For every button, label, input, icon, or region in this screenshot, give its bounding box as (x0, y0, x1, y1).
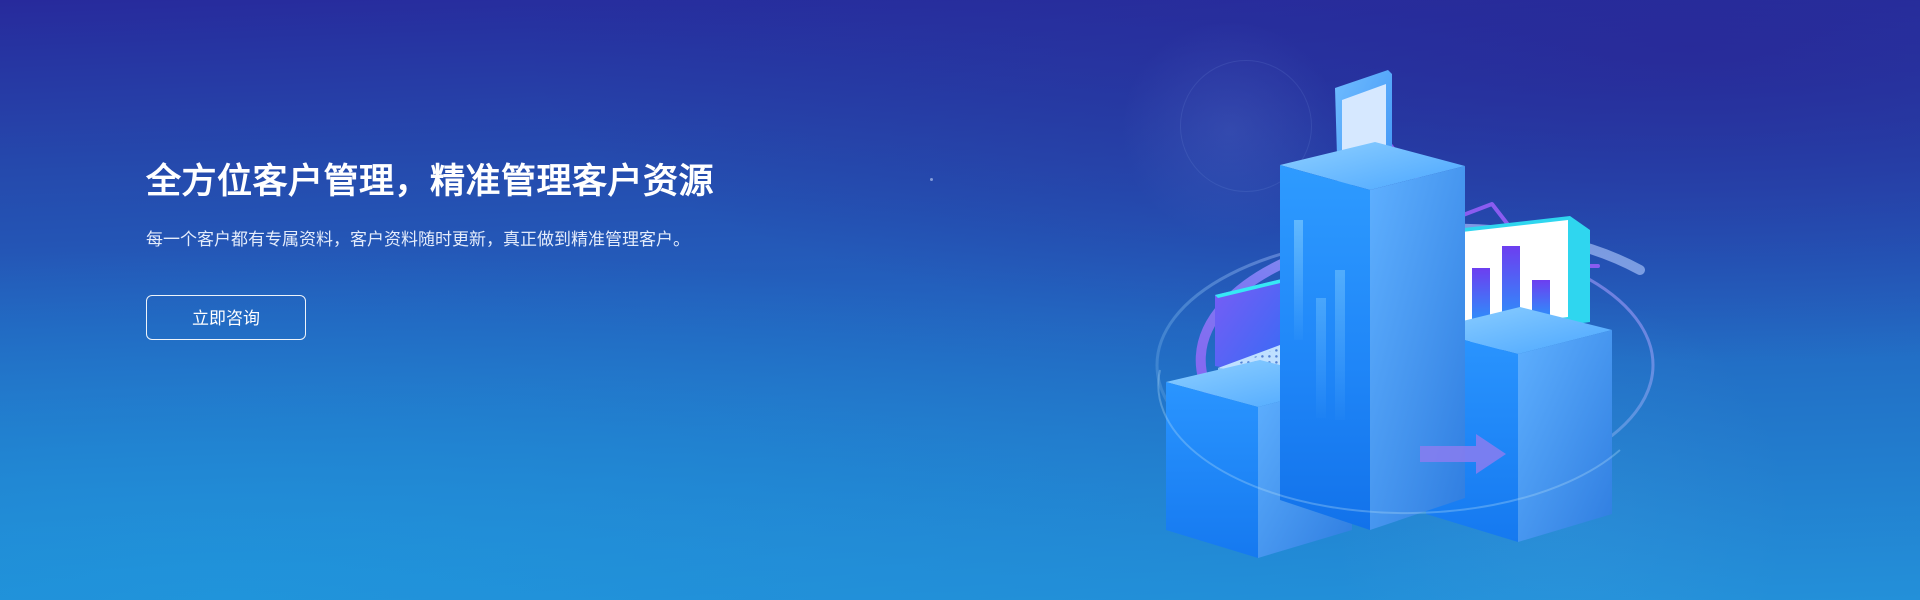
hero-banner: 全方位客户管理，精准管理客户资源 每一个客户都有专属资料，客户资料随时更新，真正… (0, 0, 1920, 600)
right-pillar-side (1518, 330, 1612, 542)
page-title: 全方位客户管理，精准管理客户资源 (146, 160, 786, 204)
monitor-bar-2 (1502, 246, 1520, 318)
decorative-dot (930, 178, 933, 181)
hero-copy: 全方位客户管理，精准管理客户资源 每一个客户都有专属资料，客户资料随时更新，真正… (146, 160, 786, 340)
monitor-bar-3 (1532, 280, 1550, 316)
hero-subtitle: 每一个客户都有专属资料，客户资料随时更新，真正做到精准管理客户。 (146, 226, 736, 254)
monitor-bar-1 (1472, 268, 1490, 320)
glow-bar-2 (1316, 298, 1326, 418)
glow-bar-3 (1335, 270, 1345, 420)
center-pillar-side (1370, 166, 1465, 530)
hero-illustration (1120, 30, 1680, 570)
left-pillar-front (1166, 382, 1258, 558)
glow-bar-1 (1294, 220, 1303, 340)
consult-now-button[interactable]: 立即咨询 (146, 295, 306, 340)
